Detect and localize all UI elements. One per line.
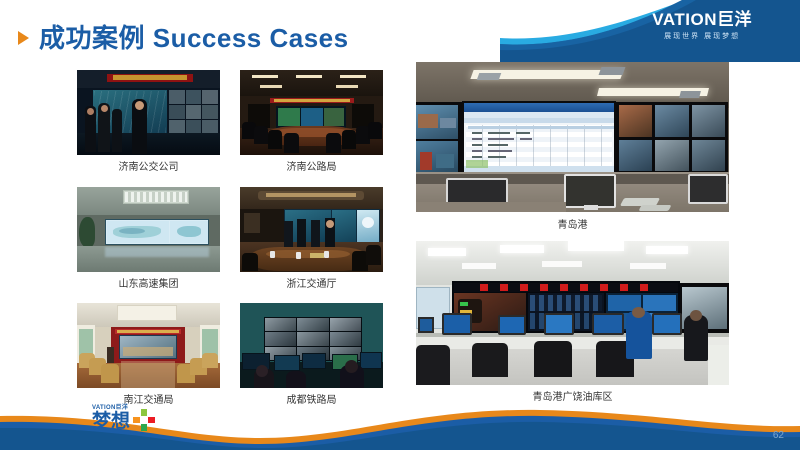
page-title: 成功案例 Success Cases xyxy=(39,18,349,55)
case-photo-qingdao-oil-depot[interactable] xyxy=(416,241,729,385)
slide-title-row: 成功案例 Success Cases xyxy=(18,18,349,55)
logo-top-tagline: 展现世界 展现梦想 xyxy=(652,31,752,41)
company-logo-top: VATION巨洋 展现世界 展现梦想 xyxy=(652,10,752,41)
triangle-right-icon xyxy=(18,31,29,45)
case-photo-jinan-bus[interactable] xyxy=(77,70,220,155)
case-caption-qingdao-port: 青岛港 xyxy=(416,216,729,231)
company-logo-bottom: VATION巨洋 梦想 xyxy=(92,405,155,432)
logo-bottom-main-text: 梦想 xyxy=(92,412,130,432)
case-caption-zhejiang-transport: 浙江交通厅 xyxy=(240,275,383,290)
case-caption-shandong-expressway: 山东高速集团 xyxy=(77,275,220,290)
header-banner-decoration xyxy=(500,0,800,62)
case-caption-jinan-highway: 济南公路局 xyxy=(240,158,383,173)
case-photo-jinan-highway[interactable] xyxy=(240,70,383,155)
case-photo-shandong-expressway[interactable] xyxy=(77,187,220,272)
pinwheel-plus-icon xyxy=(133,409,155,431)
logo-top-text: VATION巨洋 xyxy=(652,10,752,29)
case-photo-chengdu-railway[interactable] xyxy=(240,303,383,388)
case-photo-nanjiang-transport[interactable] xyxy=(77,303,220,388)
page-number: 62 xyxy=(773,430,784,441)
case-photo-qingdao-port[interactable] xyxy=(416,62,729,212)
case-caption-jinan-bus: 济南公交公司 xyxy=(77,158,220,173)
case-photo-zhejiang-transport[interactable] xyxy=(240,187,383,272)
